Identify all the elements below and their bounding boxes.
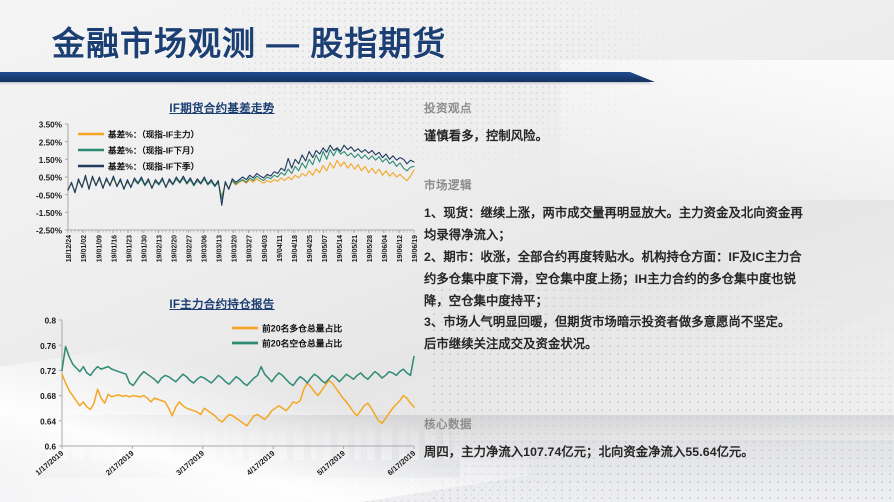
svg-text:1/17/2019: 1/17/2019 [34, 449, 66, 478]
page-title: 金融市场观测 — 股指期货 [52, 17, 446, 65]
svg-text:-1.50%: -1.50% [36, 209, 63, 218]
svg-text:5/17/2019: 5/17/2019 [315, 449, 347, 478]
svg-text:19/01/09: 19/01/09 [96, 235, 103, 262]
svg-text:0.64: 0.64 [40, 417, 56, 426]
market-logic-text: 1、现货：继续上涨，两市成交量再明显放大。主力资金及北向资金再均录得净流入；2、… [424, 204, 876, 355]
viewpoint-heading: 投资观点 [424, 100, 876, 116]
svg-text:0.72: 0.72 [40, 367, 56, 376]
svg-text:19/05/21: 19/05/21 [352, 235, 359, 262]
viewpoint-text: 谨慎看多，控制风险。 [424, 127, 876, 147]
market-logic-line: 均录得净流入； [424, 226, 876, 246]
svg-text:3/17/2019: 3/17/2019 [174, 449, 206, 478]
svg-text:19/01/16: 19/01/16 [111, 235, 118, 262]
svg-text:19/03/27: 19/03/27 [247, 235, 254, 262]
svg-text:2.50%: 2.50% [39, 138, 63, 147]
legend-label: 前20名空仓总量占比 [262, 338, 342, 349]
legend-label: 基差%：（现指-IF主力） [107, 129, 199, 140]
core-data-section: 核心数据 周四，主力净流入107.74亿元；北向资金净流入55.64亿元。 [424, 416, 876, 463]
svg-text:19/06/19: 19/06/19 [412, 235, 419, 262]
svg-text:3.50%: 3.50% [39, 121, 63, 130]
svg-text:0.68: 0.68 [40, 392, 56, 401]
svg-text:19/04/18: 19/04/18 [292, 235, 299, 262]
svg-text:19/01/02: 19/01/02 [81, 235, 88, 262]
legend-label: 基差%：（现指-IF下季） [107, 161, 199, 172]
svg-text:18/12/24: 18/12/24 [66, 235, 73, 262]
svg-text:19/01/30: 19/01/30 [141, 235, 148, 262]
chart-if-position: IF主力合约持仓报告 0.80.760.720.680.640.61/17/20… [22, 296, 422, 496]
svg-text:19/06/04: 19/06/04 [382, 235, 389, 262]
header-accent-bar [0, 72, 655, 82]
svg-text:-0.50%: -0.50% [36, 191, 63, 200]
svg-text:19/02/27: 19/02/27 [187, 235, 194, 262]
chart-if-position-title: IF主力合约持仓报告 [22, 296, 422, 312]
chart-legend: 前20名多仓总量占比前20名空仓总量占比 [232, 323, 342, 349]
market-logic-line: 降，空仓集中度持平； [424, 292, 876, 312]
svg-text:19/05/07: 19/05/07 [322, 235, 329, 262]
legend-label: 基差%：（现指-IF下月） [107, 145, 199, 156]
svg-text:19/01/23: 19/01/23 [126, 235, 133, 262]
svg-text:19/04/25: 19/04/25 [307, 235, 314, 262]
chart-if-basis: IF期货合约基差走势 3.50%2.50%1.50%0.50%-0.50%-1.… [22, 100, 422, 290]
svg-text:6/17/2019: 6/17/2019 [386, 449, 418, 478]
market-logic-line: 3、市场人气明显回暖，但期货市场暗示投资者做多意愿尚不坚定。 [424, 313, 876, 333]
svg-text:0.50%: 0.50% [39, 174, 63, 183]
chart-if-basis-title: IF期货合约基差走势 [22, 100, 422, 116]
svg-text:19/06/12: 19/06/12 [397, 235, 404, 262]
svg-text:19/03/20: 19/03/20 [232, 235, 239, 262]
market-logic-heading: 市场逻辑 [424, 177, 876, 193]
svg-text:0.76: 0.76 [40, 342, 56, 351]
chart-if-position-plot: 0.80.760.720.680.640.61/17/20192/17/2019… [22, 312, 422, 494]
slide-header: 金融市场观测 — 股指期货 [0, 0, 894, 82]
svg-text:0.8: 0.8 [45, 317, 57, 326]
svg-text:19/05/14: 19/05/14 [337, 235, 344, 262]
core-data-heading: 核心数据 [424, 416, 876, 432]
header-accent-bar-shadow [0, 82, 655, 85]
market-logic-line: 1、现货：继续上涨，两市成交量再明显放大。主力资金及北向资金再 [424, 204, 876, 224]
svg-text:19/04/03: 19/04/03 [262, 235, 269, 262]
chart-if-basis-plot: 3.50%2.50%1.50%0.50%-0.50%-1.50%-2.50%18… [22, 116, 422, 288]
svg-text:19/03/06: 19/03/06 [202, 235, 209, 262]
svg-text:19/02/13: 19/02/13 [156, 235, 163, 262]
commentary-panel: 投资观点 谨慎看多，控制风险。 市场逻辑 1、现货：继续上涨，两市成交量再明显放… [424, 100, 876, 357]
svg-text:19/05/28: 19/05/28 [367, 235, 374, 262]
svg-text:2/17/2019: 2/17/2019 [104, 449, 136, 478]
svg-text:0.6: 0.6 [45, 443, 57, 452]
svg-text:19/02/20: 19/02/20 [172, 235, 179, 262]
chart-legend: 基差%：（现指-IF主力）基差%：（现指-IF下月）基差%：（现指-IF下季） [78, 129, 199, 172]
market-logic-line: 约多仓集中度下滑，空仓集中度上扬；IH主力合约的多仓集中度也锐 [424, 270, 876, 290]
svg-text:19/04/11: 19/04/11 [277, 235, 284, 262]
market-logic-line: 后市继续关注成交及资金状况。 [424, 335, 876, 355]
legend-label: 前20名多仓总量占比 [262, 323, 342, 334]
market-logic-line: 2、期市：收涨，全部合约再度转贴水。机构持仓方面：IF及IC主力合 [424, 248, 876, 268]
svg-text:4/17/2019: 4/17/2019 [245, 449, 277, 478]
svg-text:19/03/13: 19/03/13 [217, 235, 224, 262]
core-data-text: 周四，主力净流入107.74亿元；北向资金净流入55.64亿元。 [424, 443, 876, 463]
svg-text:1.50%: 1.50% [39, 156, 63, 165]
svg-text:-2.50%: -2.50% [36, 227, 63, 236]
slide-root: 金融市场观测 — 股指期货 IF期货合约基差走势 3.50%2.50%1.50%… [0, 0, 894, 502]
